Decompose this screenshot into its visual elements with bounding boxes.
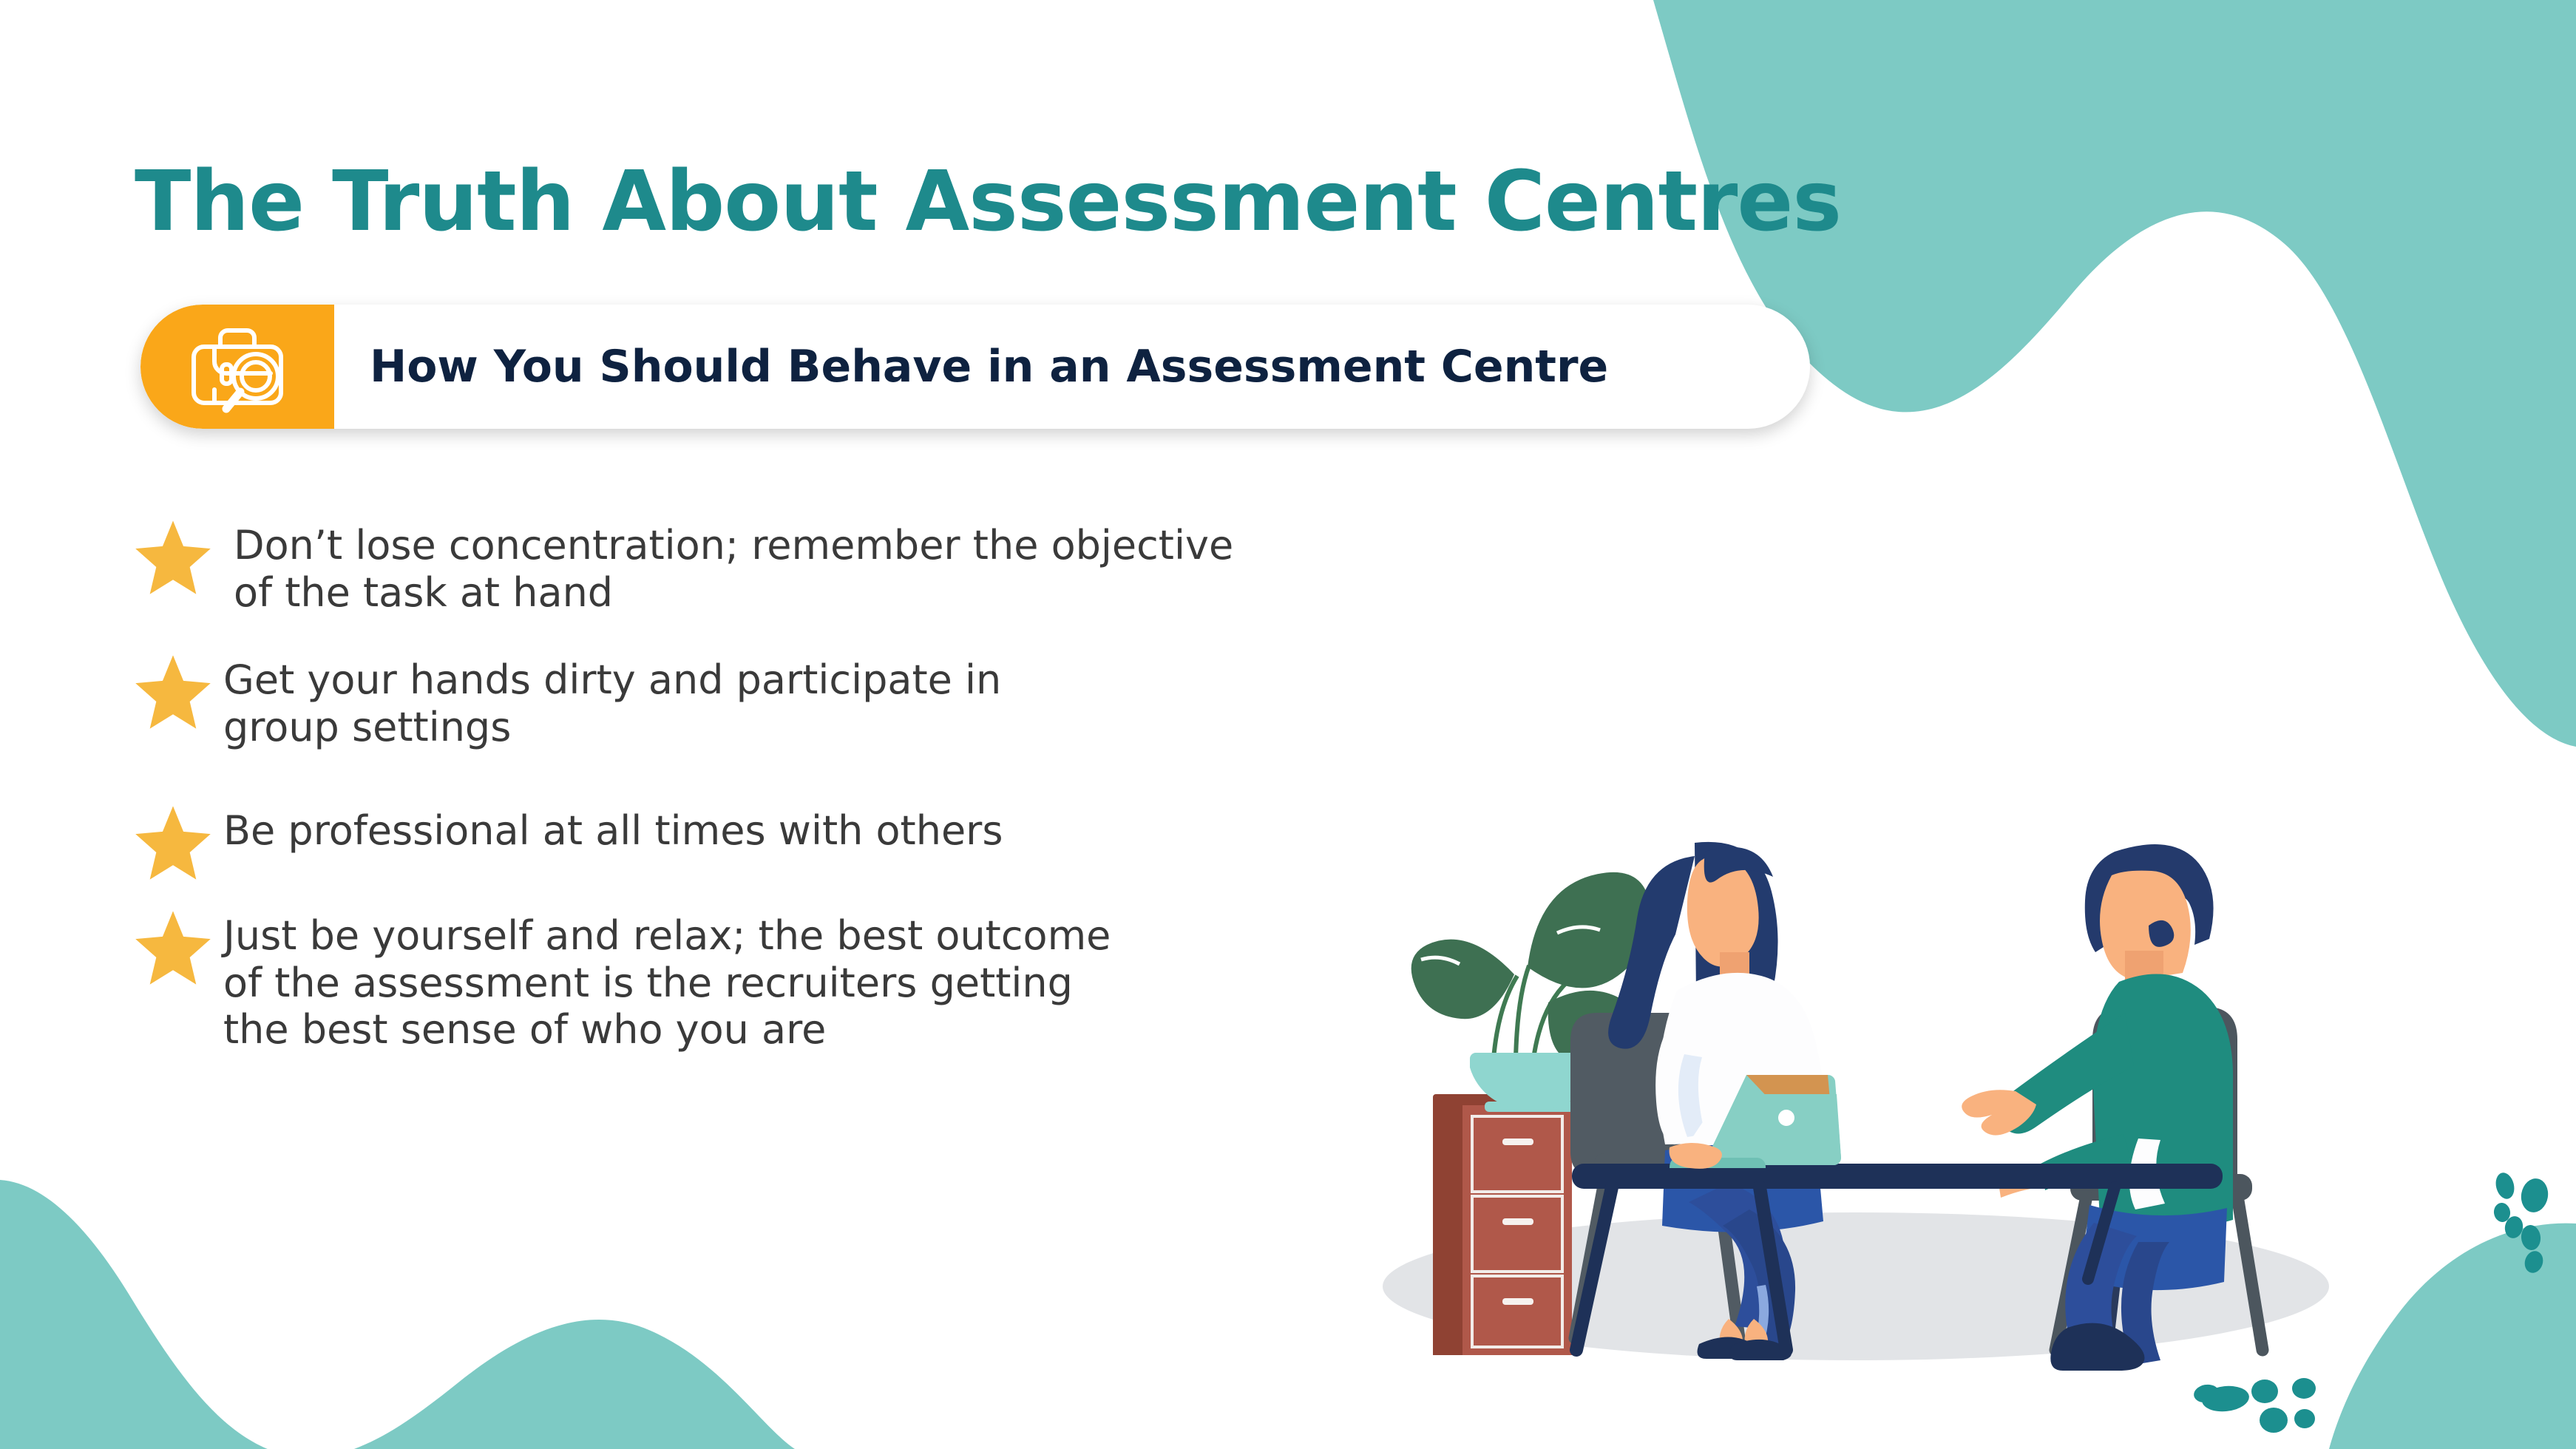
briefcase-search-icon bbox=[182, 319, 293, 415]
star-icon bbox=[133, 908, 213, 988]
dot-cluster-upper-icon bbox=[2492, 1171, 2550, 1275]
page-title: The Truth About Assessment Centres bbox=[135, 154, 1841, 250]
list-item-text: Don’t lose concentration; remember the o… bbox=[223, 517, 1233, 616]
list-item: Get your hands dirty and participate in … bbox=[133, 652, 1001, 750]
filing-cabinet bbox=[1433, 1094, 1572, 1355]
star-icon bbox=[133, 517, 213, 597]
list-item-text: Be professional at all times with others bbox=[223, 803, 1003, 855]
list-item: Don’t lose concentration; remember the o… bbox=[133, 517, 1233, 616]
dot-cluster-lower-icon bbox=[2192, 1378, 2316, 1433]
subtitle-icon-container bbox=[140, 305, 334, 429]
slide-canvas: The Truth About Assessment Centres How bbox=[0, 0, 2576, 1449]
bottom-left-wave-shape bbox=[0, 1180, 795, 1449]
subtitle-label: How You Should Behave in an Assessment C… bbox=[334, 341, 1810, 393]
list-item-text: Get your hands dirty and participate in … bbox=[223, 652, 1001, 750]
star-icon bbox=[133, 652, 213, 732]
list-item: Be professional at all times with others bbox=[133, 803, 1003, 883]
star-icon bbox=[133, 803, 213, 883]
subtitle-banner: How You Should Behave in an Assessment C… bbox=[140, 305, 1810, 429]
interview-at-table-illustration bbox=[1375, 769, 2499, 1382]
list-item-text: Just be yourself and relax; the best out… bbox=[223, 908, 1111, 1053]
list-item: Just be yourself and relax; the best out… bbox=[133, 908, 1111, 1053]
